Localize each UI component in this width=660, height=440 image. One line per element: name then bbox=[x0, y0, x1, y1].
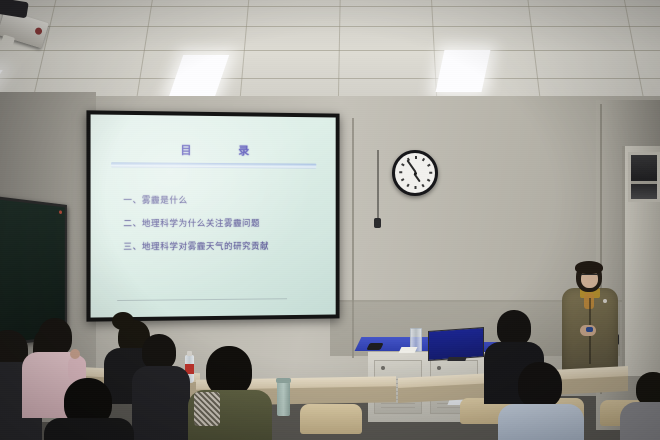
student-hand bbox=[70, 349, 80, 359]
thermos-tumbler bbox=[277, 382, 290, 416]
podium-monitor[interactable] bbox=[428, 327, 484, 361]
clock-center-pin bbox=[414, 172, 417, 175]
slide-list-item: 二、地理科学为什么关注雾霾问题 bbox=[123, 217, 318, 229]
projected-slide: 目 录 一、雾霾是什么 二、地理科学为什么关注雾霾问题 三、地理科学对雾霾天气的… bbox=[91, 114, 336, 317]
projection-screen: 目 录 一、雾霾是什么 二、地理科学为什么关注雾霾问题 三、地理科学对雾霾天气的… bbox=[86, 110, 339, 321]
presenter-badge bbox=[603, 299, 607, 303]
presenter-fringe bbox=[575, 261, 603, 274]
ceiling-light-center bbox=[169, 55, 229, 97]
classroom-scene: 目 录 一、雾霾是什么 二、地理科学为什么关注雾霾问题 三、地理科学对雾霾天气的… bbox=[0, 0, 660, 440]
slide-heading: 目 录 bbox=[109, 141, 318, 159]
patterned-scarf bbox=[194, 392, 220, 426]
glasses-icon bbox=[581, 274, 598, 279]
monitor-stand bbox=[447, 357, 466, 361]
slide-title-rule bbox=[111, 162, 316, 168]
slide-list-item: 三、地理科学对雾霾天气的研究贡献 bbox=[123, 240, 318, 253]
wall-cord bbox=[377, 150, 379, 220]
hair-bun bbox=[112, 312, 134, 330]
transom-window bbox=[628, 152, 660, 202]
presentation-clicker[interactable] bbox=[586, 327, 593, 332]
ceiling-light-right bbox=[436, 50, 491, 92]
slide-list-item: 一、雾霾是什么 bbox=[123, 194, 318, 206]
paper-sheet bbox=[399, 347, 418, 353]
light-switch[interactable] bbox=[374, 218, 381, 228]
chair-back bbox=[300, 404, 362, 434]
chalkboard-magnet-icon bbox=[59, 210, 62, 214]
wall-clock bbox=[392, 150, 438, 196]
slide-outline-list: 一、雾霾是什么 二、地理科学为什么关注雾霾问题 三、地理科学对雾霾天气的研究贡献 bbox=[123, 194, 318, 253]
